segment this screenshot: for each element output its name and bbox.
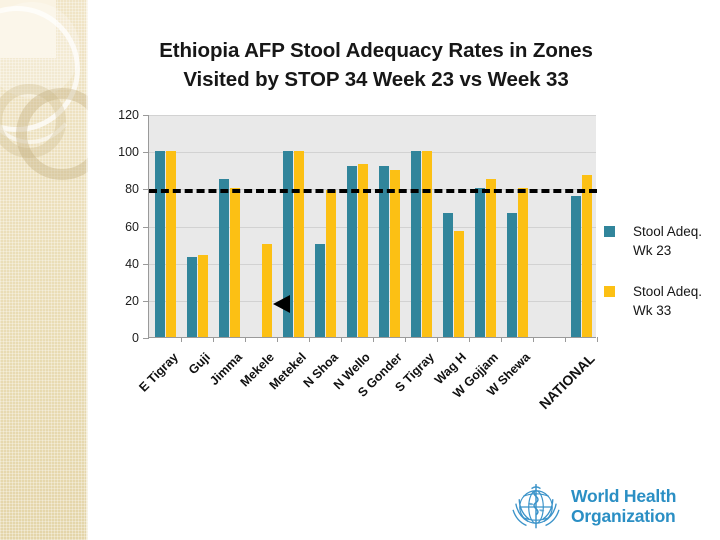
chart-legend: Stool Adeq. Wk 23Stool Adeq. Wk 33	[604, 222, 716, 343]
y-axis-label: 0	[132, 331, 139, 345]
x-axis-tick	[437, 337, 438, 342]
bar	[443, 213, 453, 338]
bar	[411, 151, 421, 337]
legend-item[interactable]: Stool Adeq. Wk 23	[604, 222, 716, 260]
legend-item-label: Stool Adeq. Wk 23	[633, 222, 716, 260]
y-axis-label: 20	[125, 294, 139, 308]
bar-group	[501, 115, 533, 337]
page-title-line-2: Visited by STOP 34 Week 23 vs Week 33	[96, 65, 656, 94]
x-axis-tick	[469, 337, 470, 342]
bar-group	[341, 115, 373, 337]
chart-bars	[149, 115, 596, 337]
x-axis-tick	[533, 337, 534, 342]
x-axis-category-label: E Tigray	[136, 350, 181, 395]
x-axis-category-label: Jimma	[207, 350, 245, 388]
legend-color-swatch	[604, 286, 615, 297]
x-axis-tick	[213, 337, 214, 342]
bar	[198, 255, 208, 337]
bar	[230, 188, 240, 337]
bar	[166, 151, 176, 337]
who-wordmark-line-1: World Health	[571, 487, 676, 507]
y-axis-label: 120	[118, 108, 139, 122]
legend-item[interactable]: Stool Adeq. Wk 33	[604, 282, 716, 320]
x-axis-tick	[277, 337, 278, 342]
page-title-line-1: Ethiopia AFP Stool Adequacy Rates in Zon…	[96, 36, 656, 65]
bar-group	[405, 115, 437, 337]
x-axis-tick	[245, 337, 246, 342]
y-axis-label: 100	[118, 145, 139, 159]
x-axis-tick	[501, 337, 502, 342]
bar	[315, 244, 325, 337]
bar-chart: 020406080100120	[148, 115, 596, 338]
bar	[219, 179, 229, 337]
decorative-sidebar	[0, 0, 88, 540]
bar	[187, 257, 197, 337]
target-arrow-left-icon	[273, 295, 290, 313]
bar-group	[565, 115, 597, 337]
bar	[454, 231, 464, 337]
y-axis-label: 60	[125, 220, 139, 234]
bar	[390, 170, 400, 337]
bar	[262, 244, 272, 337]
legend-color-swatch	[604, 226, 615, 237]
bar-group	[533, 115, 565, 337]
bar	[326, 190, 336, 337]
x-axis-tick	[565, 337, 566, 342]
x-axis-tick	[341, 337, 342, 342]
bar-group	[149, 115, 181, 337]
who-emblem-icon	[508, 479, 564, 535]
who-logo: World Health Organization	[508, 478, 714, 536]
slide: Ethiopia AFP Stool Adequacy Rates in Zon…	[0, 0, 720, 540]
sidebar-edge-divider	[86, 0, 88, 540]
legend-item-label: Stool Adeq. Wk 33	[633, 282, 716, 320]
bar	[475, 188, 485, 337]
bar	[571, 196, 581, 337]
bar-group	[213, 115, 245, 337]
y-axis-tick	[143, 338, 149, 339]
who-wordmark-line-2: Organization	[571, 507, 676, 527]
page-title: Ethiopia AFP Stool Adequacy Rates in Zon…	[96, 36, 656, 94]
bar-group	[469, 115, 501, 337]
bar	[582, 175, 592, 337]
x-axis-tick	[405, 337, 406, 342]
bar-group	[373, 115, 405, 337]
bar	[294, 151, 304, 337]
x-axis-tick	[181, 337, 182, 342]
who-wordmark: World Health Organization	[571, 487, 676, 526]
x-axis-tick	[373, 337, 374, 342]
x-axis-category-label: Guji	[186, 350, 213, 377]
bar	[507, 213, 517, 338]
bar-group	[437, 115, 469, 337]
y-axis-label: 80	[125, 182, 139, 196]
bar-group	[181, 115, 213, 337]
bar	[155, 151, 165, 337]
y-axis-label: 40	[125, 257, 139, 271]
bar	[486, 179, 496, 337]
x-axis-tick	[309, 337, 310, 342]
bar	[518, 188, 528, 337]
x-axis-category-label: NATIONAL	[536, 350, 598, 412]
x-axis-tick	[597, 337, 598, 342]
bar	[422, 151, 432, 337]
target-line-80	[149, 189, 597, 193]
bar-group	[309, 115, 341, 337]
